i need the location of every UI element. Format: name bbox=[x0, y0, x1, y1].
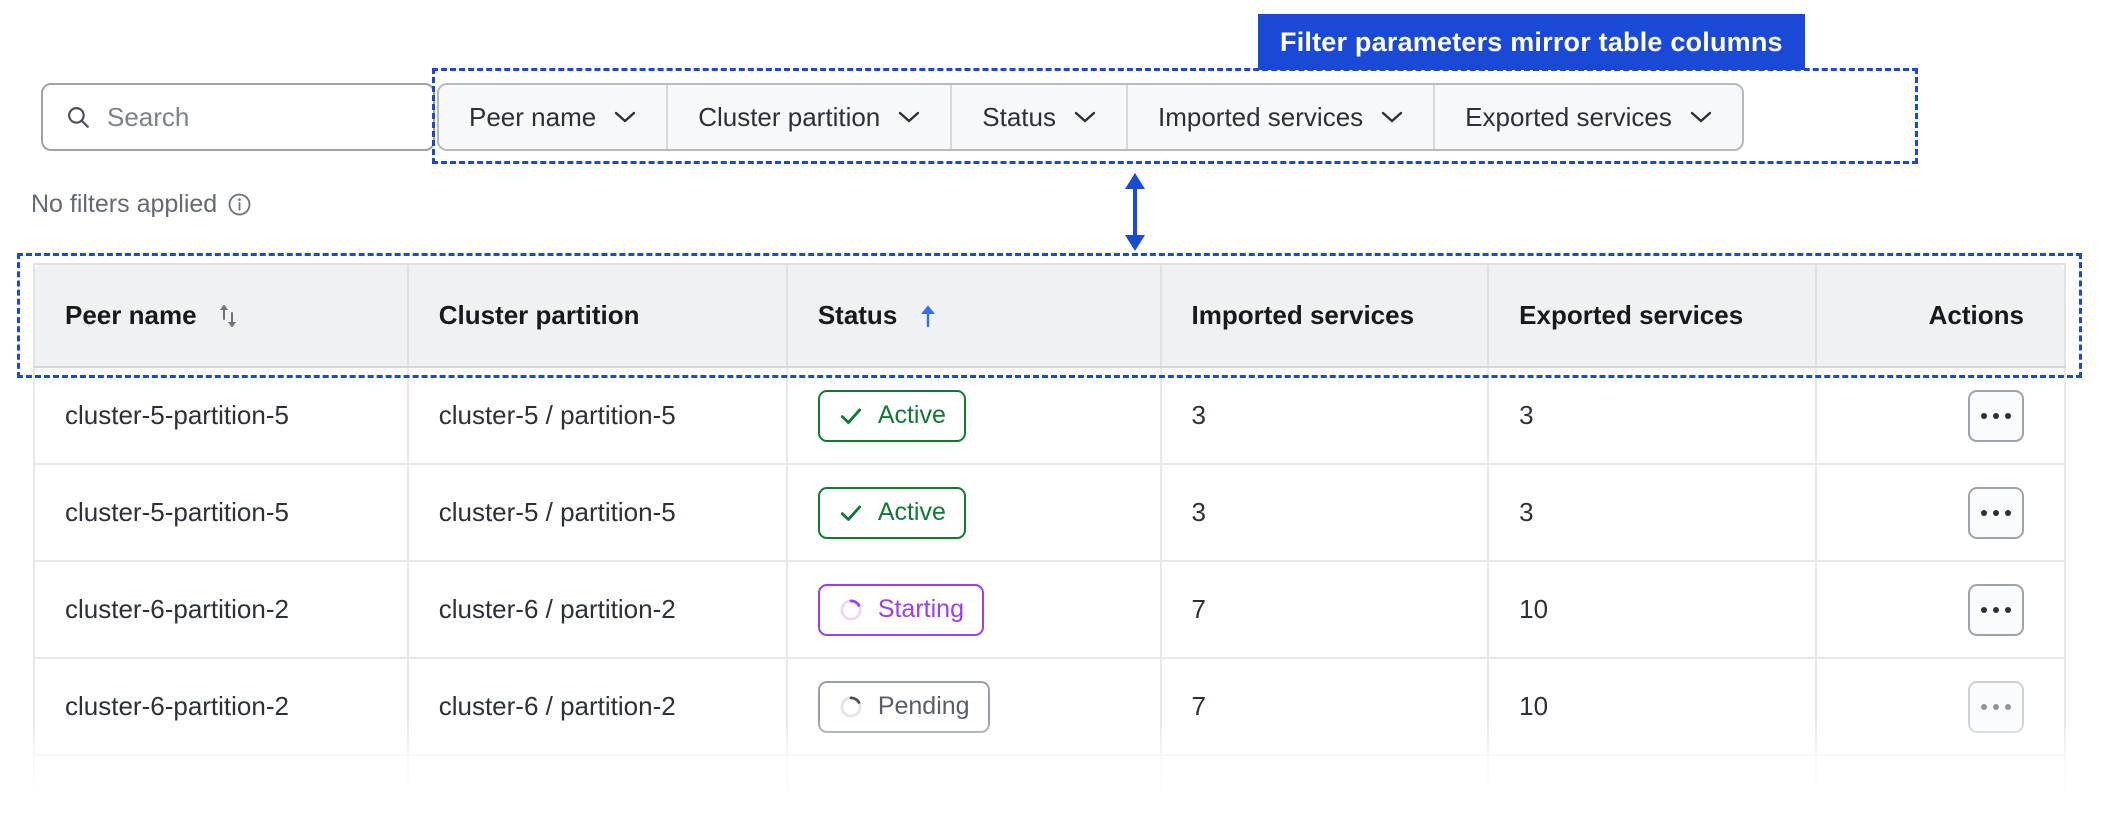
filter-chip-label: Exported services bbox=[1465, 102, 1672, 133]
chevron-down-icon bbox=[1381, 110, 1403, 124]
filter-chip-label: Imported services bbox=[1158, 102, 1363, 133]
column-header-imported-services[interactable]: Imported services bbox=[1161, 264, 1489, 367]
column-header-actions: Actions bbox=[1816, 264, 2065, 367]
table-header-row: Peer name Cluster partition bbox=[34, 264, 2065, 367]
status-badge-label: Active bbox=[878, 498, 946, 527]
row-actions-button[interactable] bbox=[1968, 681, 2024, 733]
search-input[interactable] bbox=[107, 102, 407, 133]
column-header-label: Imported services bbox=[1192, 300, 1415, 331]
cell-actions bbox=[1816, 367, 2065, 464]
filter-status-label: No filters applied bbox=[31, 190, 217, 219]
filter-chip-exported-services[interactable]: Exported services bbox=[1435, 85, 1742, 149]
kebab-menu-icon bbox=[1981, 607, 1987, 613]
status-badge: Active bbox=[818, 487, 966, 539]
cell-status: Starting bbox=[787, 561, 1161, 658]
cell-exported-services: 10 bbox=[1488, 658, 1816, 755]
column-header-cluster-partition[interactable]: Cluster partition bbox=[408, 264, 787, 367]
filter-chip-cluster-partition[interactable]: Cluster partition bbox=[668, 85, 952, 149]
column-header-status[interactable]: Status bbox=[787, 264, 1161, 367]
kebab-menu-icon bbox=[1981, 510, 1987, 516]
column-header-label: Status bbox=[818, 300, 897, 331]
filter-chip-group: Peer name Cluster partition Status Impor… bbox=[437, 83, 1744, 151]
check-icon bbox=[838, 500, 864, 526]
search-icon bbox=[65, 104, 91, 130]
cell-peer-name: cluster-5-partition-5 bbox=[34, 464, 408, 561]
cell-exported-services bbox=[1488, 755, 1816, 816]
cell-exported-services: 10 bbox=[1488, 561, 1816, 658]
cell-imported-services: 3 bbox=[1161, 464, 1489, 561]
kebab-menu-icon bbox=[1993, 704, 1999, 710]
kebab-menu-icon bbox=[2005, 607, 2011, 613]
cell-imported-services: 7 bbox=[1161, 561, 1489, 658]
filter-chip-label: Cluster partition bbox=[698, 102, 880, 133]
column-header-peer-name[interactable]: Peer name bbox=[34, 264, 408, 367]
spinner-icon bbox=[838, 694, 864, 720]
cell-peer-name: cluster-6-partition-2 bbox=[34, 658, 408, 755]
row-actions-button[interactable] bbox=[1968, 390, 2024, 442]
cell-exported-services: 3 bbox=[1488, 464, 1816, 561]
kebab-menu-icon bbox=[1993, 510, 1999, 516]
filter-status: No filters applied bbox=[31, 190, 252, 219]
cell-imported-services: 7 bbox=[1161, 658, 1489, 755]
cell-cluster-partition: cluster-5 / partition-5 bbox=[408, 367, 787, 464]
column-header-label: Exported services bbox=[1519, 300, 1743, 331]
chevron-down-icon bbox=[614, 110, 636, 124]
filter-chip-status[interactable]: Status bbox=[952, 85, 1128, 149]
column-header-label: Peer name bbox=[65, 300, 197, 331]
filter-chip-peer-name[interactable]: Peer name bbox=[439, 85, 668, 149]
table-row[interactable]: cluster-6-partition-2 cluster-6 / partit… bbox=[34, 561, 2065, 658]
table-row[interactable]: cluster-5-partition-5 cluster-5 / partit… bbox=[34, 367, 2065, 464]
cell-actions bbox=[1816, 658, 2065, 755]
table-row[interactable]: cluster-5-partition-5 cluster-5 / partit… bbox=[34, 464, 2065, 561]
cell-imported-services: 3 bbox=[1161, 367, 1489, 464]
cell-actions bbox=[1816, 464, 2065, 561]
column-header-label: Actions bbox=[1929, 300, 2024, 330]
table-toolbar: Peer name Cluster partition Status Impor… bbox=[41, 83, 1744, 151]
cell-cluster-partition bbox=[408, 755, 787, 816]
row-actions-button[interactable] bbox=[1968, 487, 2024, 539]
filter-chip-label: Status bbox=[982, 102, 1056, 133]
kebab-menu-icon bbox=[2005, 704, 2011, 710]
cell-imported-services bbox=[1161, 755, 1489, 816]
cell-exported-services: 3 bbox=[1488, 367, 1816, 464]
peers-table: Peer name Cluster partition bbox=[33, 263, 2066, 816]
kebab-menu-icon bbox=[1981, 413, 1987, 419]
cell-status: Active bbox=[787, 367, 1161, 464]
cell-status: Pending bbox=[787, 658, 1161, 755]
cell-actions bbox=[1816, 755, 2065, 816]
cell-cluster-partition: cluster-6 / partition-2 bbox=[408, 658, 787, 755]
chevron-down-icon bbox=[898, 110, 920, 124]
table-row[interactable]: cluster-6-partition-2 cluster-6 / partit… bbox=[34, 658, 2065, 755]
cell-cluster-partition: cluster-5 / partition-5 bbox=[408, 464, 787, 561]
status-badge-label: Starting bbox=[878, 595, 964, 624]
status-badge-label: Active bbox=[878, 401, 946, 430]
table-row bbox=[34, 755, 2065, 816]
search-box[interactable] bbox=[41, 83, 435, 151]
check-icon bbox=[838, 403, 864, 429]
column-header-exported-services[interactable]: Exported services bbox=[1488, 264, 1816, 367]
annotation-banner-text: Filter parameters mirror table columns bbox=[1280, 27, 1783, 58]
arrow-up-icon[interactable] bbox=[915, 302, 941, 330]
sort-updown-icon[interactable] bbox=[215, 302, 241, 330]
cell-peer-name: cluster-5-partition-5 bbox=[34, 367, 408, 464]
cell-actions bbox=[1816, 561, 2065, 658]
status-badge-label: Pending bbox=[878, 692, 970, 721]
kebab-menu-icon bbox=[1981, 704, 1987, 710]
cell-cluster-partition: cluster-6 / partition-2 bbox=[408, 561, 787, 658]
row-actions-button[interactable] bbox=[1968, 584, 2024, 636]
cell-status: Active bbox=[787, 464, 1161, 561]
info-circle-icon[interactable] bbox=[227, 192, 252, 217]
cell-peer-name bbox=[34, 755, 408, 816]
spinner-icon bbox=[838, 597, 864, 623]
annotation-banner: Filter parameters mirror table columns bbox=[1258, 14, 1805, 70]
filter-chip-label: Peer name bbox=[469, 102, 596, 133]
status-badge: Active bbox=[818, 390, 966, 442]
kebab-menu-icon bbox=[2005, 413, 2011, 419]
filter-chip-imported-services[interactable]: Imported services bbox=[1128, 85, 1435, 149]
cell-peer-name: cluster-6-partition-2 bbox=[34, 561, 408, 658]
status-badge: Starting bbox=[818, 584, 984, 636]
screenshot-root: Filter parameters mirror table columns P… bbox=[0, 0, 2118, 816]
kebab-menu-icon bbox=[1993, 413, 1999, 419]
column-header-label: Cluster partition bbox=[439, 300, 640, 331]
annotation-connector-arrow bbox=[1100, 170, 1170, 254]
chevron-down-icon bbox=[1074, 110, 1096, 124]
kebab-menu-icon bbox=[2005, 510, 2011, 516]
chevron-down-icon bbox=[1690, 110, 1712, 124]
status-badge: Pending bbox=[818, 681, 990, 733]
kebab-menu-icon bbox=[1993, 607, 1999, 613]
cell-status bbox=[787, 755, 1161, 816]
